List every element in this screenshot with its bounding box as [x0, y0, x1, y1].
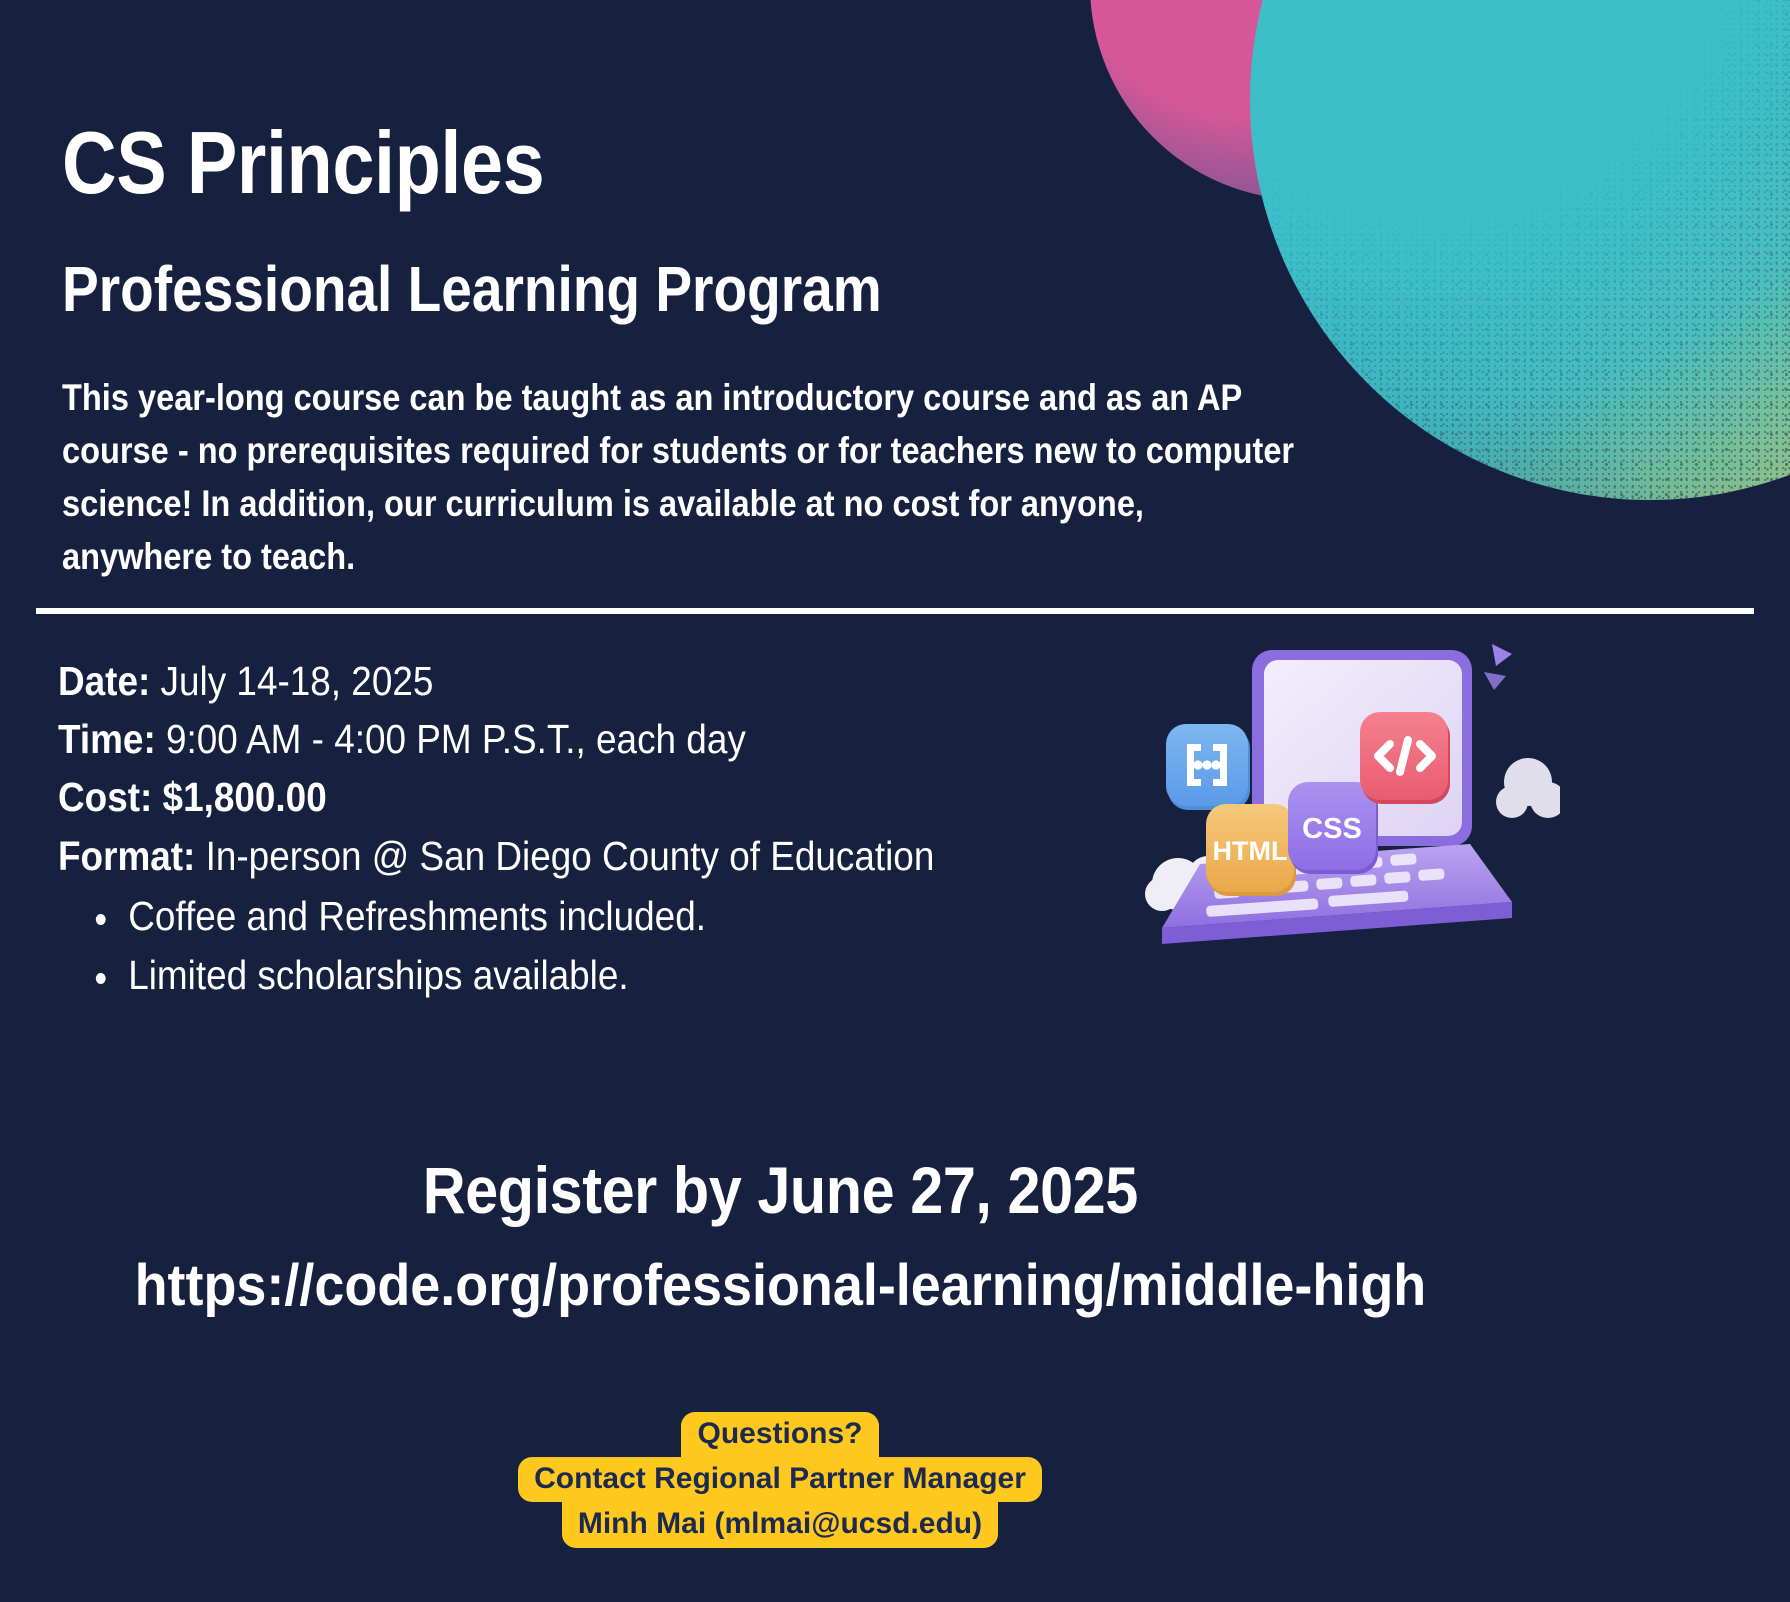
questions-line-1: Questions?: [0, 1412, 1560, 1459]
svg-text:HTML: HTML: [1213, 836, 1288, 866]
detail-row-date: Date: July 14-18, 2025: [58, 652, 1030, 710]
questions-contact-box: Questions? Contact Regional Partner Mana…: [0, 1412, 1560, 1548]
detail-label-time: Time:: [58, 716, 156, 762]
brackets-badge-icon: [1166, 724, 1250, 810]
horizontal-divider: [36, 608, 1754, 614]
detail-row-time: Time: 9:00 AM - 4:00 PM P.S.T., each day: [58, 710, 1030, 768]
detail-label-format: Format:: [58, 833, 195, 879]
detail-value-cost: $1,800.00: [163, 774, 327, 820]
pink-circle-decoration: [1090, 0, 1520, 200]
bullet-text: Coffee and Refreshments included.: [128, 893, 706, 939]
detail-value-date: July 14-18, 2025: [161, 658, 434, 704]
list-item: Coffee and Refreshments included.: [58, 887, 1030, 946]
questions-line-2: Contact Regional Partner Manager: [0, 1459, 1560, 1503]
list-item: Limited scholarships available.: [58, 946, 1030, 1005]
css-badge-icon: CSS: [1288, 782, 1378, 874]
detail-label-date: Date:: [58, 658, 150, 704]
code-tag-badge-icon: [1360, 712, 1450, 804]
detail-row-format: Format: In-person @ San Diego County of …: [58, 827, 1030, 885]
bullet-dot-icon: [96, 914, 106, 925]
register-deadline-heading: Register by June 27, 2025: [0, 1152, 1560, 1228]
page-subtitle: Professional Learning Program: [62, 256, 882, 323]
questions-heading-text: Questions?: [681, 1412, 878, 1459]
bullet-text: Limited scholarships available.: [128, 952, 628, 998]
svg-text:CSS: CSS: [1302, 813, 1362, 845]
details-block: Date: July 14-18, 2025 Time: 9:00 AM - 4…: [58, 652, 1030, 1006]
speckle-texture-overlay: [1250, 0, 1790, 500]
teal-circle-decoration: [1250, 0, 1790, 500]
detail-value-format: In-person @ San Diego County of Educatio…: [206, 833, 935, 879]
confetti-icon: [1484, 644, 1512, 690]
questions-contact-email-text: Minh Mai (mlmai@ucsd.edu): [562, 1500, 998, 1548]
detail-value-time: 9:00 AM - 4:00 PM P.S.T., each day: [166, 716, 746, 762]
html-badge-icon: HTML: [1206, 804, 1296, 896]
program-description: This year-long course can be taught as a…: [62, 372, 1303, 584]
questions-line-3: Minh Mai (mlmai@ucsd.edu): [0, 1502, 1560, 1548]
detail-row-cost: Cost: $1,800.00: [58, 768, 1030, 826]
page-title: CS Principles: [62, 118, 544, 208]
register-deadline-text: Register by June 27, 2025: [422, 1152, 1137, 1228]
questions-contact-role-text: Contact Regional Partner Manager: [518, 1457, 1042, 1503]
flyer-canvas: CS Principles Professional Learning Prog…: [0, 0, 1790, 1602]
bullet-dot-icon: [96, 973, 106, 984]
registration-link-text[interactable]: https://code.org/professional-learning/m…: [134, 1252, 1426, 1319]
cloud-icon: [1496, 758, 1560, 818]
details-bullet-list: Coffee and Refreshments included. Limite…: [58, 887, 1030, 1006]
detail-label-cost: Cost:: [58, 774, 152, 820]
registration-link[interactable]: https://code.org/professional-learning/m…: [0, 1252, 1560, 1319]
laptop-coding-illustration: HTML CSS: [1140, 632, 1560, 972]
